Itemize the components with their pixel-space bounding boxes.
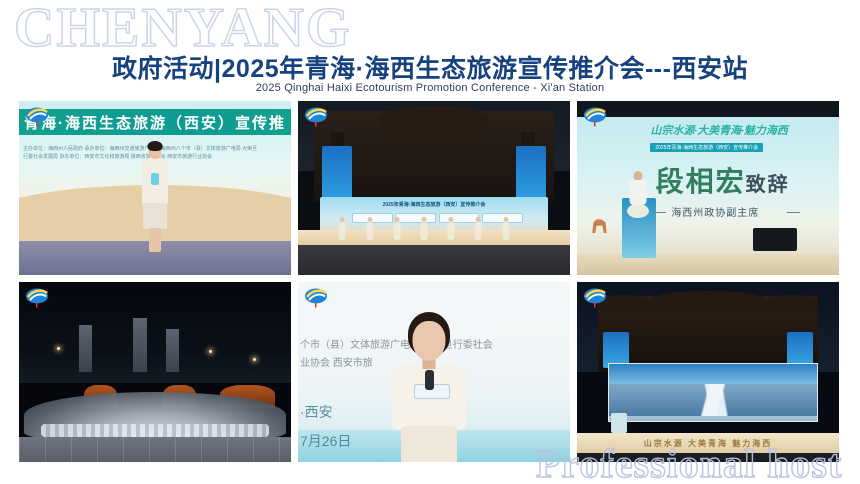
- light-point: [253, 358, 256, 361]
- photo3-speaker-name: 段相宏致辞: [656, 160, 790, 200]
- rule-right: [787, 212, 800, 213]
- gallery-photo-bottom-left[interactable]: [18, 281, 292, 463]
- photo2-stage-title: 2025年青海·海西生态旅游（西安）宣传推介会: [320, 201, 549, 208]
- microphone-icon: [425, 370, 434, 390]
- channel-logo-icon: [304, 287, 330, 309]
- channel-logo-icon: [304, 106, 330, 128]
- photo-scene-speech: 山宗水源·大美青海·魅力海西 2025年青海·海西生态旅游（西安）宣传推介会 段…: [577, 101, 839, 275]
- gallery-photo-bottom-right[interactable]: 山宗水源 大美青海 魅力海西: [576, 281, 840, 463]
- photo3-ribbon-text: 2025年青海·海西生态旅游（西安）宣传推介会: [650, 143, 763, 152]
- speaker-name-suffix: 致辞: [746, 174, 790, 196]
- host-skirt: [401, 426, 457, 462]
- led-side-screen-left: [322, 146, 352, 202]
- city-tower: [166, 329, 180, 372]
- stage-front-strip: [577, 254, 839, 275]
- speaker-figure: [629, 171, 646, 205]
- photo1-banner-text: 青海·海西生态旅游（西安）宣传推: [19, 109, 291, 135]
- stage-card: [439, 213, 480, 224]
- host-face: [412, 321, 445, 361]
- channel-logo-icon: [583, 287, 609, 309]
- led-side-screen-right: [516, 146, 546, 202]
- photo5-city: ·西安: [300, 402, 333, 422]
- photo-scene-host-closeup: 个市（县）文体旅游广电局 大柴旦行委社会 业协会 西安市旅 ·西安 7月26日: [298, 282, 570, 462]
- podium: [611, 413, 627, 433]
- host-figure: [135, 143, 175, 255]
- building-roof: [380, 106, 489, 130]
- stage-monitor-speaker: [753, 228, 798, 251]
- photo6-banner-text: 山宗水源 大美青海 魅力海西: [644, 438, 772, 449]
- poster-page: CHENYANG 政府活动|2025年青海·海西生态旅游宣传推介会---西安站 …: [0, 0, 860, 484]
- photo-scene-outdoor-night-stage: 2025年青海·海西生态旅游（西安）宣传推介会: [298, 101, 570, 275]
- host-hair: [148, 141, 163, 151]
- plaza-ground: [577, 453, 839, 462]
- chair-row: [41, 424, 270, 437]
- performer: [393, 217, 400, 247]
- channel-logo-icon: [583, 106, 609, 128]
- performer: [420, 217, 427, 247]
- plaza-ground: [19, 437, 291, 462]
- deer-graphic-icon: [587, 213, 611, 233]
- photo3-script-slogan: 山宗水源·大美青海·魅力海西: [650, 122, 788, 138]
- page-subtitle: 2025 Qinghai Haixi Ecotourism Promotion …: [0, 82, 860, 94]
- snow-mountain-image: [609, 384, 817, 416]
- host-skirt: [143, 203, 167, 229]
- host-legs: [149, 228, 161, 252]
- gallery-photo-top-left[interactable]: 青海·海西生态旅游（西安）宣传推 主办单位：海西州人民政府 承办单位：海西州交通…: [18, 100, 292, 276]
- temple-main-eave: [650, 291, 765, 313]
- performer: [448, 217, 455, 247]
- channel-logo-icon: [25, 287, 51, 309]
- photo5-screen-line2: 业协会 西安市旅: [300, 354, 373, 369]
- city-tower: [79, 325, 93, 372]
- microphone-icon: [151, 173, 159, 185]
- light-point: [57, 347, 60, 350]
- photo-scene-host-stage: 青海·海西生态旅游（西安）宣传推 主办单位：海西州人民政府 承办单位：海西州交通…: [19, 101, 291, 275]
- night-sky: [19, 282, 291, 383]
- performer: [339, 217, 346, 247]
- photo-scene-audience-panorama: [19, 282, 291, 462]
- main-led-screen: [608, 363, 818, 422]
- gallery-photo-top-center[interactable]: 2025年青海·海西生态旅游（西安）宣传推介会: [297, 100, 571, 276]
- podium-flowers: [627, 204, 649, 218]
- photo-scene-led-snow-mountains: 山宗水源 大美青海 魅力海西: [577, 282, 839, 462]
- performer: [475, 217, 482, 247]
- gallery-photo-bottom-center[interactable]: 个市（县）文体旅游广电局 大柴旦行委社会 业协会 西安市旅 ·西安 7月26日: [297, 281, 571, 463]
- gallery-photo-top-right[interactable]: 山宗水源·大美青海·魅力海西 2025年青海·海西生态旅游（西安）宣传推介会 段…: [576, 100, 840, 276]
- performer: [366, 217, 373, 247]
- city-tower: [133, 318, 147, 372]
- photo-gallery-grid: 青海·海西生态旅游（西安）宣传推 主办单位：海西州人民政府 承办单位：海西州交通…: [18, 100, 842, 468]
- plaza-ground: [298, 245, 570, 275]
- speaker-name-text: 段相宏: [656, 166, 746, 197]
- photo3-speaker-role: 海西州政协副主席: [671, 204, 759, 219]
- stage-front-banner: 山宗水源 大美青海 魅力海西: [577, 433, 839, 453]
- performer: [502, 217, 509, 247]
- ceiling-truss: [577, 101, 839, 117]
- photo5-date: 7月26日: [300, 431, 351, 451]
- stage-card: [395, 213, 436, 224]
- page-title: 政府活动|2025年青海·海西生态旅游宣传推介会---西安站: [0, 49, 860, 85]
- host-figure-closeup: [384, 312, 474, 462]
- channel-logo-icon: [25, 106, 51, 128]
- temple-side-eave: [766, 295, 818, 311]
